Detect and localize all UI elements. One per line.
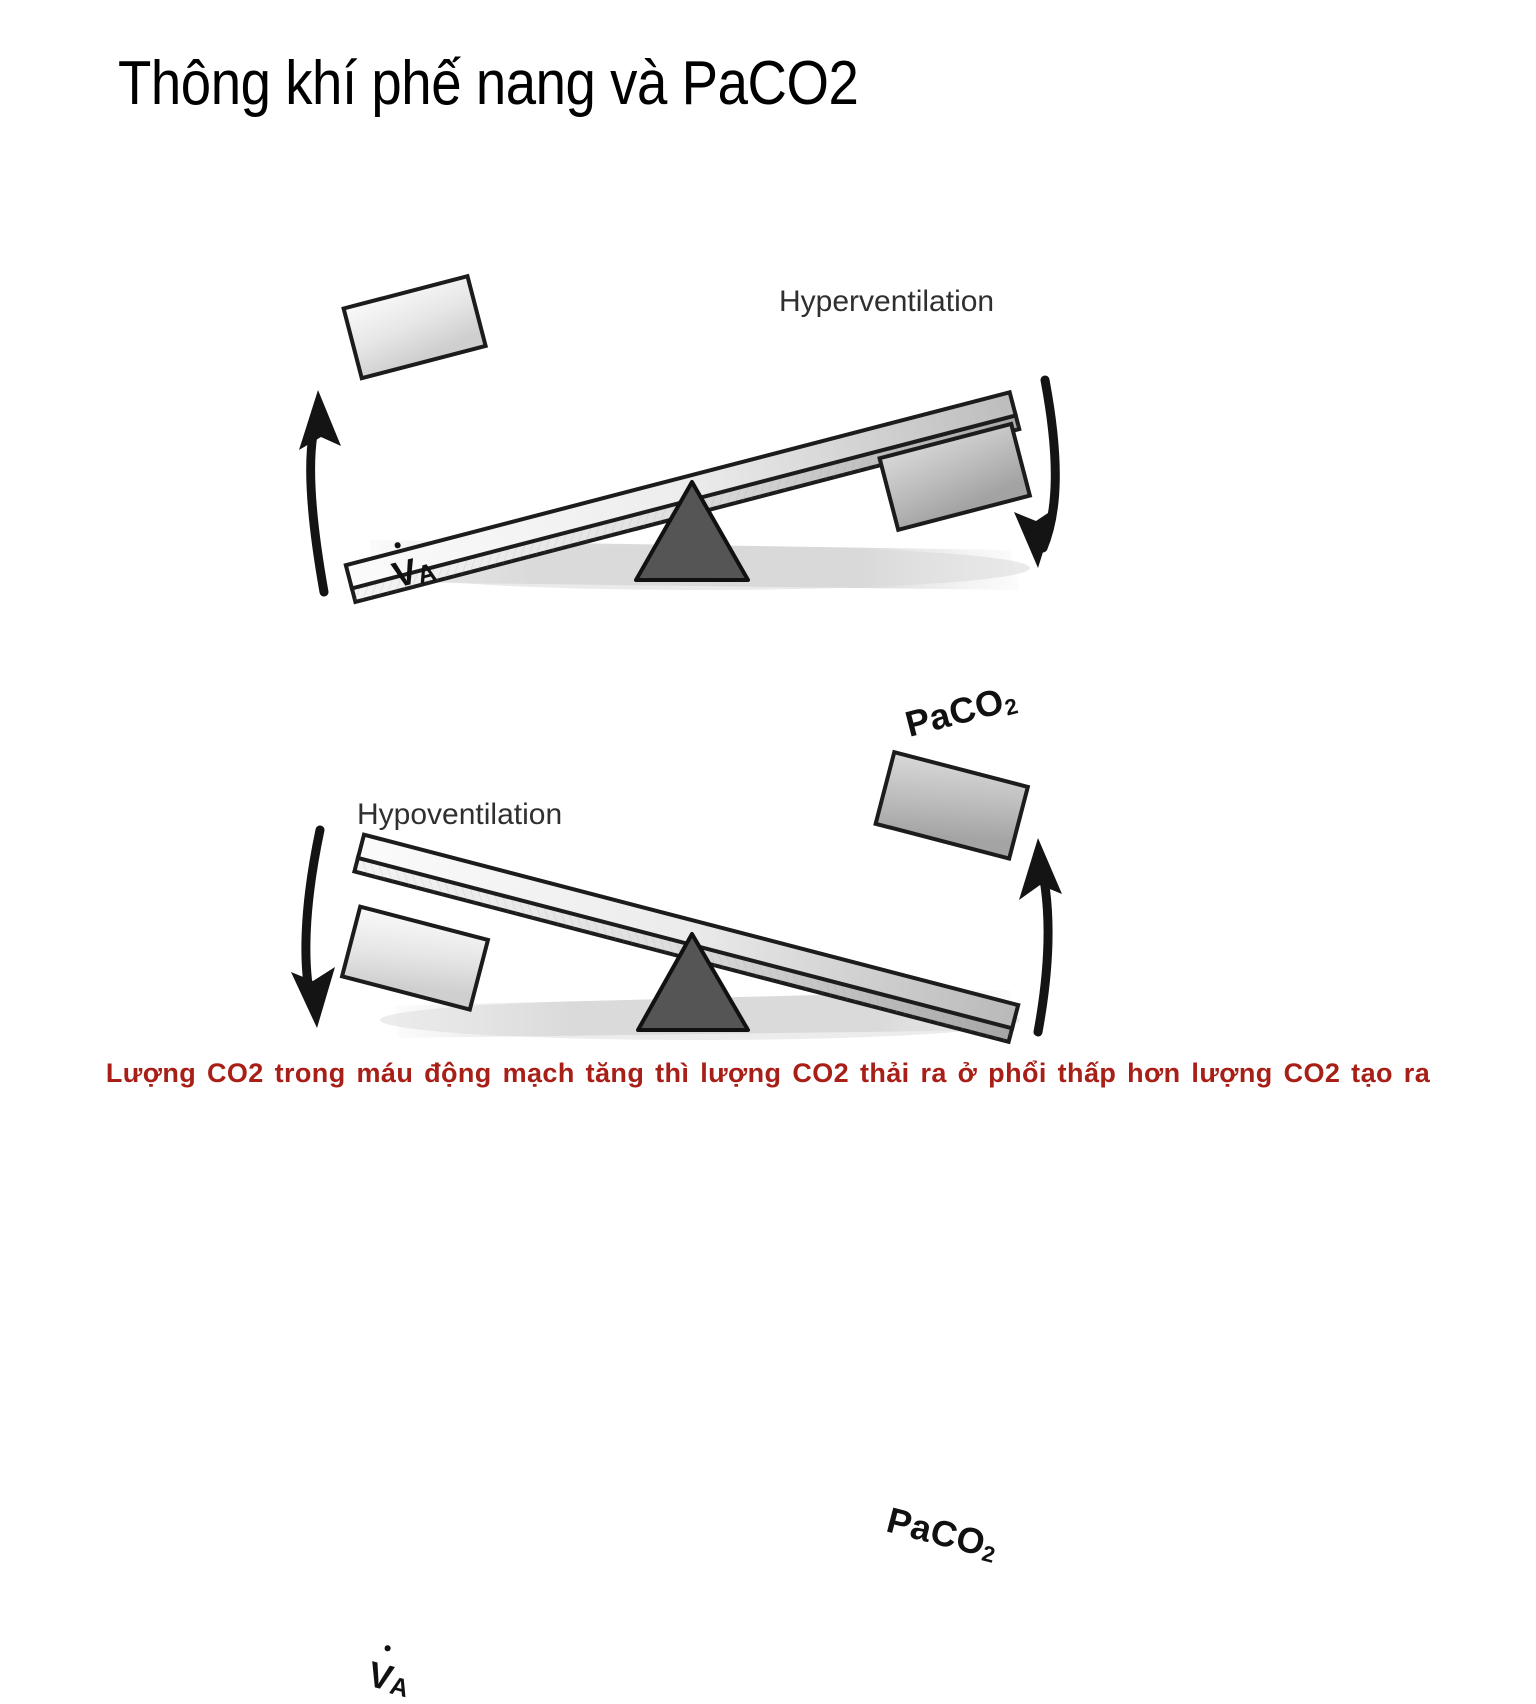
label-hypoventilation: Hypoventilation [357, 798, 562, 832]
caption-text: Lượng CO2 trong máu động mạch tăng thì l… [0, 1056, 1536, 1090]
block-paco2 [876, 752, 1028, 858]
arrow-down-left-icon [291, 830, 335, 1028]
label-hyperventilation: Hyperventilation [779, 285, 994, 319]
arrow-up-right-icon [1019, 838, 1062, 1032]
block-va [344, 276, 486, 378]
block-va [342, 907, 488, 1010]
page-title: Thông khí phế nang và PaCO2 [118, 47, 858, 121]
block-va-label: VA [363, 1653, 414, 1704]
diagram-hyperventilation: VA PaCO2 [0, 250, 1536, 640]
block-paco2-label: PaCO2 [882, 1499, 1001, 1568]
arrow-up-left-icon [299, 390, 341, 592]
diagram-hypoventilation: VA PaCO2 [0, 720, 1536, 1050]
